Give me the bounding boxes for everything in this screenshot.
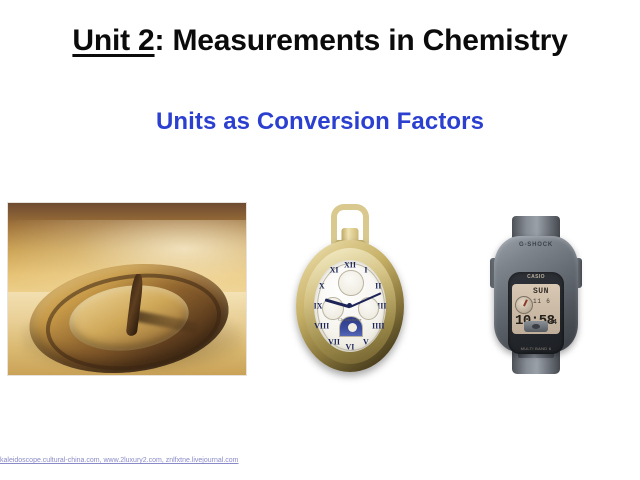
- pocket-watch-numeral: II: [375, 281, 381, 290]
- digital-watch-casio-label: CASIO: [508, 274, 564, 280]
- pocket-watch-numeral: VII: [328, 338, 340, 347]
- page-subtitle: Units as Conversion Factors: [0, 108, 640, 136]
- pocket-watch-brand-label: Chronometre: [314, 317, 386, 322]
- compass-icon: [515, 296, 533, 314]
- digital-watch-day-readout: SUN: [533, 287, 549, 296]
- pocket-watch-numeral: IIII: [372, 322, 384, 331]
- digital-watch-seconds-readout: 34: [549, 319, 557, 327]
- pocket-watch-photo: XII I II III IIII V VI VII VIII IX X XI: [294, 204, 406, 376]
- page-title: Unit 2: Measurements in Chemistry: [0, 24, 640, 58]
- title-rest-label: : Measurements in Chemistry: [155, 24, 568, 57]
- pocket-watch-numeral: IX: [314, 301, 323, 310]
- digital-watch-photo: G-SHOCK CASIO SUN 11 6 10:58 34 MULTI BA…: [494, 216, 578, 374]
- image-sources-credit[interactable]: kaleidoscope.cultural-china.com, www.2lu…: [0, 456, 239, 466]
- pocket-watch-dial: XII I II III IIII V VI VII VIII IX X XI: [314, 260, 386, 353]
- digital-watch-button-bottom: [524, 321, 548, 332]
- digital-watch-bezel: G-SHOCK CASIO SUN 11 6 10:58 34 MULTI BA…: [494, 236, 578, 352]
- pocket-watch-case: XII I II III IIII V VI VII VIII IX X XI: [296, 240, 404, 372]
- pocket-watch-numeral: XII: [344, 261, 356, 270]
- presentation-slide: Unit 2: Measurements in Chemistry Units …: [0, 0, 640, 480]
- pocket-watch-numeral: I: [364, 265, 367, 274]
- pocket-watch-subdial-top: [338, 270, 363, 296]
- sundial-photo: [8, 203, 246, 375]
- digital-watch-brand-label: G-SHOCK: [494, 242, 578, 248]
- pocket-watch-numeral: XI: [330, 265, 339, 274]
- digital-watch-date-readout: 11 6: [533, 298, 551, 305]
- digital-watch-sub-label: MULTI BAND 6: [508, 346, 564, 351]
- pocket-watch-numeral: V: [363, 338, 369, 347]
- pocket-watch-bezel: XII I II III IIII V VI VII VIII IX X XI: [304, 248, 397, 364]
- pocket-watch-numeral: X: [319, 281, 325, 290]
- pocket-watch-numeral: VI: [346, 342, 355, 351]
- pocket-watch-numeral: VIII: [314, 322, 329, 331]
- digital-watch-face: CASIO SUN 11 6 10:58 34 MULTI BAND 6: [508, 272, 564, 354]
- title-unit-label: Unit 2: [72, 24, 154, 57]
